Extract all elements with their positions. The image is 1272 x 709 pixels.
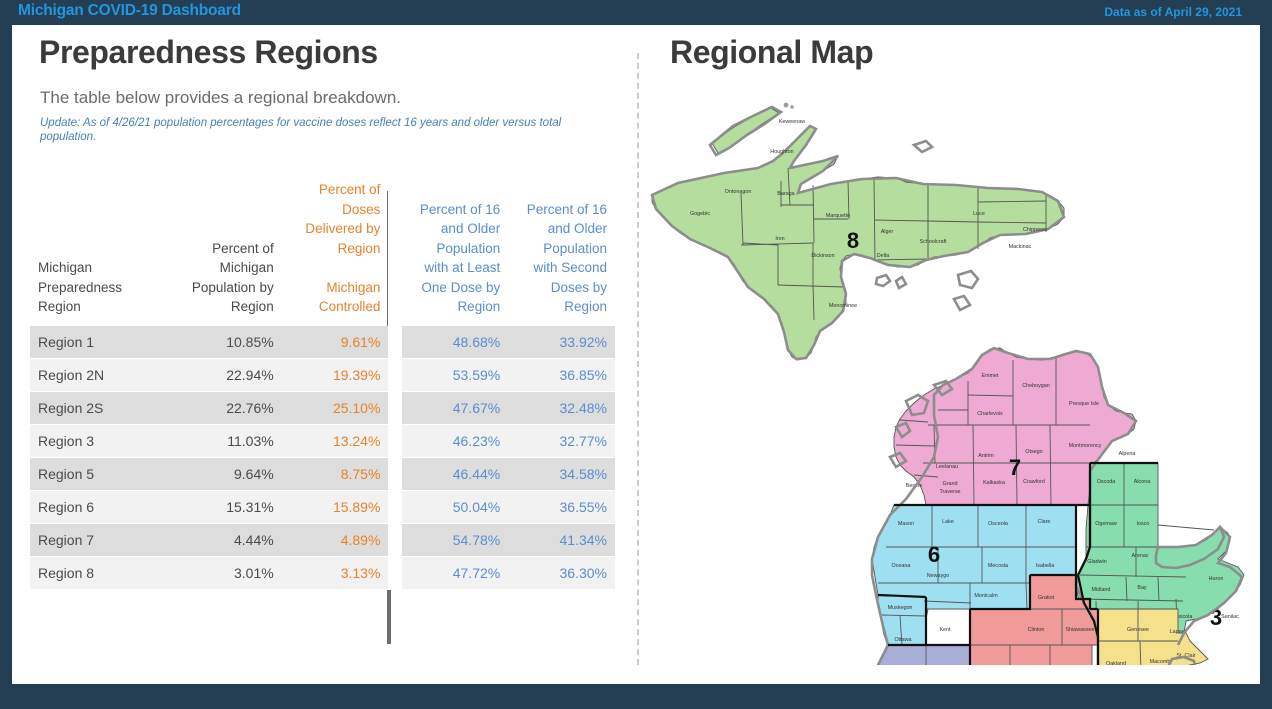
svg-text:Kalkaska: Kalkaska xyxy=(983,480,1005,486)
svg-text:Grand: Grand xyxy=(943,481,958,487)
svg-text:Shiawassee: Shiawassee xyxy=(1065,627,1094,633)
cell-population: 10.85% xyxy=(175,326,282,359)
svg-text:Mason: Mason xyxy=(898,521,914,527)
svg-text:8: 8 xyxy=(847,228,859,253)
svg-text:Oceana: Oceana xyxy=(892,563,911,569)
svg-text:Alcona: Alcona xyxy=(1134,479,1150,485)
col-header-second-dose[interactable]: Percent of 16 and Older Population with … xyxy=(508,180,615,326)
col-spacer xyxy=(388,180,401,326)
cell-doses: 19.39% xyxy=(282,358,389,391)
svg-text:Montmorency: Montmorency xyxy=(1069,443,1102,449)
svg-text:Iron: Iron xyxy=(775,236,784,242)
dashboard-app: Michigan COVID-19 Dashboard Data as of A… xyxy=(0,0,1272,709)
cell-region: Region 2N xyxy=(30,358,175,391)
map-title: Regional Map xyxy=(670,34,873,71)
svg-text:Huron: Huron xyxy=(1209,576,1224,582)
col-header-region[interactable]: Michigan Preparedness Region xyxy=(30,180,175,326)
michigan-region-map[interactable]: Keweenaw Houghton Ontonagon Gogebic Bara… xyxy=(638,85,1260,675)
cell-doses: 4.89% xyxy=(282,523,389,556)
col-header-doses-delivered[interactable]: Percent of Doses Delivered by RegionMich… xyxy=(282,180,389,326)
regions-table-body: Region 1 10.85% 9.61% 48.68% 33.92% Regi… xyxy=(30,326,615,590)
svg-text:Sanilac: Sanilac xyxy=(1221,614,1239,620)
cell-second-dose: 36.55% xyxy=(508,490,615,523)
svg-text:Alpena: Alpena xyxy=(1119,451,1136,457)
svg-text:Kent: Kent xyxy=(939,627,951,633)
svg-text:Mecosta: Mecosta xyxy=(988,563,1008,569)
cell-spacer xyxy=(388,457,401,490)
svg-text:Marquette: Marquette xyxy=(826,213,850,219)
cell-second-dose: 41.34% xyxy=(508,523,615,556)
col-header-population[interactable]: Percent of Michigan Population by Region xyxy=(175,180,282,326)
svg-text:Luce: Luce xyxy=(973,211,985,217)
svg-text:Genesee: Genesee xyxy=(1127,627,1149,633)
cell-one-dose: 47.67% xyxy=(402,391,509,424)
svg-text:Isabella: Isabella xyxy=(1036,563,1055,569)
top-bar: Michigan COVID-19 Dashboard Data as of A… xyxy=(0,0,1272,25)
svg-text:7: 7 xyxy=(1009,455,1021,480)
cell-region: Region 6 xyxy=(30,490,175,523)
cell-region: Region 1 xyxy=(30,326,175,359)
cell-second-dose: 33.92% xyxy=(508,326,615,359)
content-canvas: Preparedness Regions The table below pro… xyxy=(12,25,1260,684)
table-row[interactable]: Region 1 10.85% 9.61% 48.68% 33.92% xyxy=(30,326,615,359)
svg-text:Muskegon: Muskegon xyxy=(888,605,913,611)
regional-map-panel: Regional Map xyxy=(638,25,1260,684)
cell-second-dose: 32.48% xyxy=(508,391,615,424)
col-header-doses-sub: Michigan Controlled xyxy=(319,280,381,315)
cell-spacer xyxy=(388,424,401,457)
table-row[interactable]: Region 2N 22.94% 19.39% 53.59% 36.85% xyxy=(30,358,615,391)
svg-text:Newaygo: Newaygo xyxy=(927,573,949,579)
col-header-doses-main: Percent of Doses Delivered by Region xyxy=(305,182,380,256)
svg-text:Dickinson: Dickinson xyxy=(811,253,834,259)
app-title: Michigan COVID-19 Dashboard xyxy=(18,2,241,20)
update-note: Update: As of 4/26/21 population percent… xyxy=(40,116,585,145)
svg-text:Alger: Alger xyxy=(881,229,894,235)
cell-region: Region 3 xyxy=(30,424,175,457)
cell-doses: 9.61% xyxy=(282,326,389,359)
cell-population: 3.01% xyxy=(175,556,282,589)
cell-one-dose: 46.23% xyxy=(402,424,509,457)
svg-text:Traverse: Traverse xyxy=(939,489,960,495)
col-header-one-dose[interactable]: Percent of 16 and Older Population with … xyxy=(402,180,509,326)
svg-text:Clinton: Clinton xyxy=(1028,627,1045,633)
cell-second-dose: 36.30% xyxy=(508,556,615,589)
svg-text:Mackinac: Mackinac xyxy=(1009,244,1032,250)
table-row[interactable]: Region 7 4.44% 4.89% 54.78% 41.34% xyxy=(30,523,615,556)
svg-text:Leelanau: Leelanau xyxy=(936,464,958,470)
cell-spacer xyxy=(388,523,401,556)
cell-spacer xyxy=(388,326,401,359)
map-region-8-upper-peninsula[interactable]: Keweenaw Houghton Ontonagon Gogebic Bara… xyxy=(652,119,1064,360)
svg-text:Ottawa: Ottawa xyxy=(894,637,911,643)
svg-text:Gogebic: Gogebic xyxy=(690,211,710,217)
svg-text:Emmet: Emmet xyxy=(981,373,999,379)
svg-text:Midland: Midland xyxy=(1092,587,1111,593)
svg-text:Keweenaw: Keweenaw xyxy=(779,119,805,125)
page-subtitle: The table below provides a regional brea… xyxy=(40,88,401,108)
cell-population: 22.94% xyxy=(175,358,282,391)
map-svg[interactable]: Keweenaw Houghton Ontonagon Gogebic Bara… xyxy=(638,85,1260,665)
cell-region: Region 2S xyxy=(30,391,175,424)
preparedness-regions-panel: Preparedness Regions The table below pro… xyxy=(12,25,625,684)
svg-text:Montcalm: Montcalm xyxy=(974,593,998,599)
svg-text:Clare: Clare xyxy=(1038,519,1051,525)
svg-text:Ontonagon: Ontonagon xyxy=(725,189,752,195)
table-header-row: Michigan Preparedness Region Percent of … xyxy=(30,180,615,326)
svg-text:6: 6 xyxy=(928,542,940,567)
svg-text:Antrim: Antrim xyxy=(978,453,994,459)
data-as-of-label: Data as of April 29, 2021 xyxy=(1104,5,1242,19)
svg-text:Cheboygan: Cheboygan xyxy=(1022,383,1050,389)
cell-doses: 8.75% xyxy=(282,457,389,490)
svg-text:Oscoda: Oscoda xyxy=(1097,479,1116,485)
svg-text:Osceola: Osceola xyxy=(988,521,1008,527)
cell-doses: 15.89% xyxy=(282,490,389,523)
svg-text:Houghton: Houghton xyxy=(770,149,793,155)
cell-one-dose: 48.68% xyxy=(402,326,509,359)
svg-text:Lake: Lake xyxy=(942,519,954,525)
regions-table: Michigan Preparedness Region Percent of … xyxy=(30,180,615,590)
svg-text:Gladwin: Gladwin xyxy=(1087,559,1106,565)
table-row[interactable]: Region 5 9.64% 8.75% 46.44% 34.58% xyxy=(30,457,615,490)
cell-spacer xyxy=(388,358,401,391)
page-title: Preparedness Regions xyxy=(39,34,378,71)
svg-text:Menominee: Menominee xyxy=(829,303,857,309)
cell-population: 11.03% xyxy=(175,424,282,457)
cell-population: 22.76% xyxy=(175,391,282,424)
cell-doses: 13.24% xyxy=(282,424,389,457)
svg-text:Delta: Delta xyxy=(877,253,890,259)
svg-text:Presque Isle: Presque Isle xyxy=(1069,401,1099,407)
cell-population: 15.31% xyxy=(175,490,282,523)
cell-spacer xyxy=(388,556,401,589)
svg-text:Baraga: Baraga xyxy=(777,191,794,197)
cell-second-dose: 32.77% xyxy=(508,424,615,457)
svg-text:Iosco: Iosco xyxy=(1137,521,1150,527)
cell-one-dose: 50.04% xyxy=(402,490,509,523)
table-row[interactable]: Region 3 11.03% 13.24% 46.23% 32.77% xyxy=(30,424,615,457)
map-isle-royale xyxy=(710,103,794,155)
cell-region: Region 7 xyxy=(30,523,175,556)
cell-population: 9.64% xyxy=(175,457,282,490)
cell-population: 4.44% xyxy=(175,523,282,556)
cell-one-dose: 53.59% xyxy=(402,358,509,391)
svg-text:Crawford: Crawford xyxy=(1023,479,1045,485)
svg-text:Oakland: Oakland xyxy=(1106,661,1126,665)
cell-region: Region 8 xyxy=(30,556,175,589)
svg-text:Bay: Bay xyxy=(1137,585,1147,591)
svg-text:Gratiot: Gratiot xyxy=(1038,595,1055,601)
svg-text:Schoolcraft: Schoolcraft xyxy=(920,239,947,245)
cell-spacer xyxy=(388,490,401,523)
cell-spacer xyxy=(388,391,401,424)
cell-doses: 3.13% xyxy=(282,556,389,589)
table-row[interactable]: Region 6 15.31% 15.89% 50.04% 36.55% xyxy=(30,490,615,523)
svg-text:Ogemaw: Ogemaw xyxy=(1095,521,1117,527)
svg-text:Arenac: Arenac xyxy=(1131,553,1148,559)
cell-second-dose: 34.58% xyxy=(508,457,615,490)
svg-text:1: 1 xyxy=(1010,661,1022,665)
svg-text:Otsego: Otsego xyxy=(1025,449,1042,455)
svg-text:Macomb: Macomb xyxy=(1150,659,1171,665)
cell-one-dose: 54.78% xyxy=(402,523,509,556)
svg-text:Charlevoix: Charlevoix xyxy=(977,411,1003,417)
table-row[interactable]: Region 2S 22.76% 25.10% 47.67% 32.48% xyxy=(30,391,615,424)
cell-one-dose: 46.44% xyxy=(402,457,509,490)
svg-text:Chippewa: Chippewa xyxy=(1023,227,1047,233)
cell-one-dose: 47.72% xyxy=(402,556,509,589)
cell-second-dose: 36.85% xyxy=(508,358,615,391)
cell-doses: 25.10% xyxy=(282,391,389,424)
cell-region: Region 5 xyxy=(30,457,175,490)
table-row[interactable]: Region 8 3.01% 3.13% 47.72% 36.30% xyxy=(30,556,615,589)
